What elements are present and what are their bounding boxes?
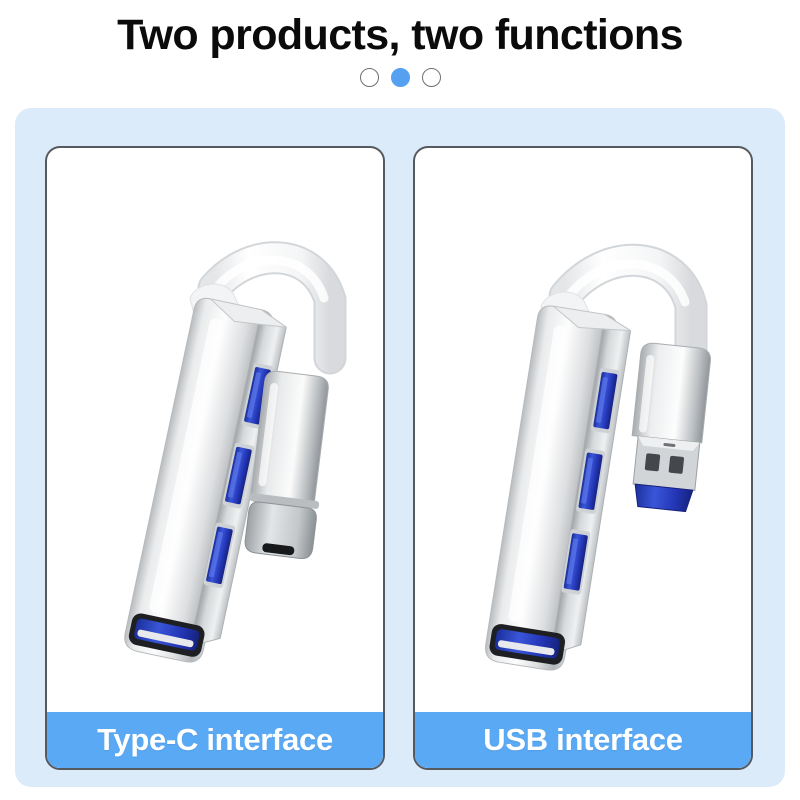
usb-a-notch-right: [669, 456, 685, 474]
product-image-type-c: [47, 148, 383, 714]
product-image-usb: [415, 148, 751, 714]
pagination-dot-2-active[interactable]: [391, 68, 410, 87]
usb-a-connector: [625, 342, 712, 512]
usb-hub-illustration: [415, 148, 751, 714]
product-card-type-c[interactable]: Type-C interface: [45, 146, 385, 770]
hub-body: [483, 304, 632, 674]
type-c-hub-illustration: [47, 148, 383, 714]
card-label-text-usb: USB interface: [483, 722, 682, 758]
product-card-usb[interactable]: USB interface: [413, 146, 753, 770]
pagination-dot-3[interactable]: [422, 68, 441, 87]
usb-a-notch-left: [645, 453, 661, 471]
page-title: Two products, two functions: [0, 9, 800, 61]
card-label-text-type-c: Type-C interface: [97, 722, 333, 758]
card-label-bar-type-c: Type-C interface: [47, 712, 383, 768]
card-label-bar-usb: USB interface: [415, 712, 751, 768]
pagination-dot-1[interactable]: [360, 68, 379, 87]
pagination-dots[interactable]: [0, 68, 800, 87]
product-comparison-screen: Two products, two functions: [0, 0, 800, 800]
